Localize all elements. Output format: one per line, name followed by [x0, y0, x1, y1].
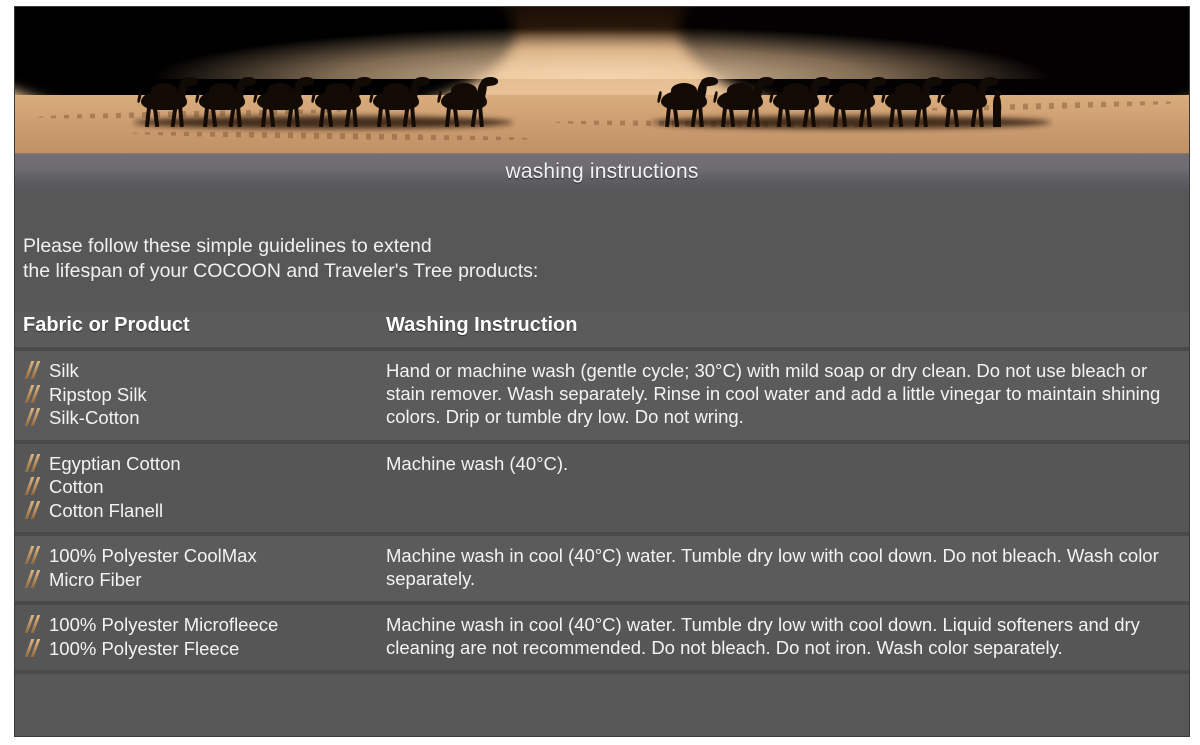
list-item: Silk — [23, 359, 374, 383]
double-slash-bullet-icon — [25, 569, 43, 589]
content-frame: washing instructions Please follow these… — [14, 6, 1190, 737]
intro-paragraph: Please follow these simple guidelines to… — [15, 190, 1189, 284]
table-row: 100% Polyester Microfleece 100% Polyeste… — [15, 603, 1189, 672]
list-item: Micro Fiber — [23, 568, 374, 592]
column-header-fabric: Fabric or Product — [15, 312, 382, 349]
instruction-cell: Machine wash in cool (40°C) water. Tumbl… — [382, 603, 1189, 672]
double-slash-bullet-icon — [25, 360, 43, 380]
double-slash-bullet-icon — [25, 545, 43, 565]
camel-silhouette — [193, 75, 257, 127]
fabric-label: Silk — [49, 360, 79, 381]
camel-silhouette — [309, 75, 373, 127]
camel-silhouette — [711, 75, 775, 127]
camel-silhouette — [823, 75, 887, 127]
fabric-cell: 100% Polyester Microfleece 100% Polyeste… — [15, 603, 382, 672]
page-title: washing instructions — [505, 160, 698, 184]
camel-silhouette — [251, 75, 315, 127]
camel-caravan-left — [135, 71, 505, 127]
main-content: Please follow these simple guidelines to… — [15, 190, 1189, 737]
table-row: Egyptian Cotton Cotton Cotton Flanell — [15, 442, 1189, 535]
fabric-label: Cotton — [49, 476, 104, 497]
fabric-label: 100% Polyester Fleece — [49, 638, 239, 659]
table-row: Silk Ripstop Silk Silk-Cotton — [15, 349, 1189, 442]
fabric-label: 100% Polyester CoolMax — [49, 545, 257, 566]
fabric-list: 100% Polyester Microfleece 100% Polyeste… — [23, 613, 374, 660]
fabric-label: Ripstop Silk — [49, 384, 147, 405]
camel-caravan-right — [655, 71, 1015, 127]
dune-crest-highlight — [15, 17, 1189, 79]
fabric-label: 100% Polyester Microfleece — [49, 614, 278, 635]
list-item: Silk-Cotton — [23, 406, 374, 430]
camel-silhouette — [879, 75, 943, 127]
column-header-instruction: Washing Instruction — [382, 312, 1189, 349]
washing-instructions-table: Fabric or Product Washing Instruction Si… — [15, 312, 1189, 674]
table-header: Fabric or Product Washing Instruction — [15, 312, 1189, 349]
intro-line-1: Please follow these simple guidelines to… — [23, 234, 1189, 259]
list-item: Cotton — [23, 475, 374, 499]
table-header-row: Fabric or Product Washing Instruction — [15, 312, 1189, 349]
instruction-cell: Machine wash in cool (40°C) water. Tumbl… — [382, 534, 1189, 603]
list-item: Cotton Flanell — [23, 499, 374, 523]
page-title-bar: washing instructions — [15, 153, 1189, 190]
double-slash-bullet-icon — [25, 614, 43, 634]
instruction-cell: Hand or machine wash (gentle cycle; 30°C… — [382, 349, 1189, 442]
list-item: 100% Polyester Microfleece — [23, 613, 374, 637]
table-row: 100% Polyester CoolMax Micro Fiber Machi… — [15, 534, 1189, 603]
camel-silhouette — [135, 75, 199, 127]
camel-silhouette — [435, 75, 499, 127]
double-slash-bullet-icon — [25, 453, 43, 473]
list-item: 100% Polyester Fleece — [23, 637, 374, 661]
double-slash-bullet-icon — [25, 638, 43, 658]
list-item: Egyptian Cotton — [23, 452, 374, 476]
fabric-list: Egyptian Cotton Cotton Cotton Flanell — [23, 452, 374, 523]
camel-silhouette — [655, 75, 719, 127]
table-body: Silk Ripstop Silk Silk-Cotton — [15, 349, 1189, 672]
herder-silhouette — [991, 87, 1003, 127]
camel-silhouette — [935, 75, 999, 127]
intro-line-2: the lifespan of your COCOON and Traveler… — [23, 259, 1189, 284]
fabric-list: Silk Ripstop Silk Silk-Cotton — [23, 359, 374, 430]
camel-silhouette — [767, 75, 831, 127]
fabric-label: Micro Fiber — [49, 569, 142, 590]
fabric-cell: Silk Ripstop Silk Silk-Cotton — [15, 349, 382, 442]
double-slash-bullet-icon — [25, 407, 43, 427]
fabric-list: 100% Polyester CoolMax Micro Fiber — [23, 544, 374, 591]
list-item: Ripstop Silk — [23, 383, 374, 407]
fabric-cell: 100% Polyester CoolMax Micro Fiber — [15, 534, 382, 603]
fabric-label: Egyptian Cotton — [49, 453, 181, 474]
double-slash-bullet-icon — [25, 476, 43, 496]
fabric-label: Silk-Cotton — [49, 407, 139, 428]
camel-silhouette — [367, 75, 431, 127]
page-root: washing instructions Please follow these… — [0, 0, 1200, 745]
double-slash-bullet-icon — [25, 500, 43, 520]
list-item: 100% Polyester CoolMax — [23, 544, 374, 568]
fabric-label: Cotton Flanell — [49, 500, 163, 521]
fabric-cell: Egyptian Cotton Cotton Cotton Flanell — [15, 442, 382, 535]
desert-caravan-banner-image — [15, 7, 1189, 153]
instruction-cell: Machine wash (40°C). — [382, 442, 1189, 535]
double-slash-bullet-icon — [25, 384, 43, 404]
